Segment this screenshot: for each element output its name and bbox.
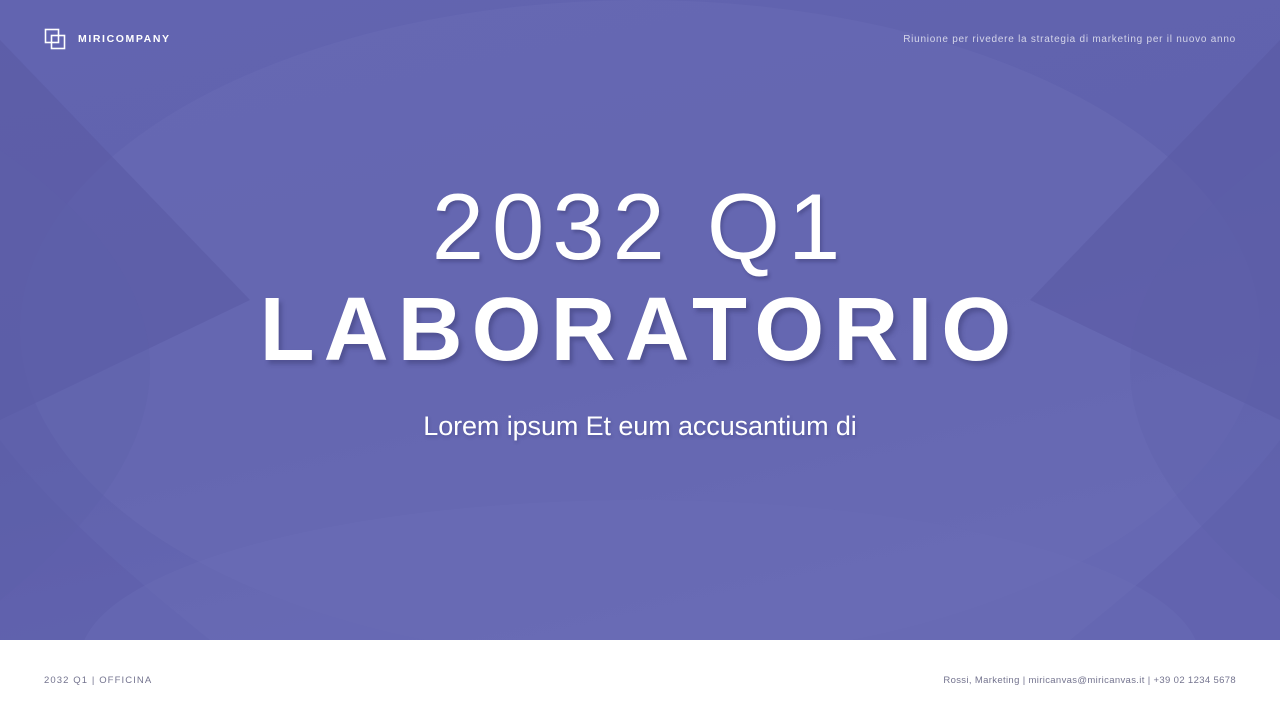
brand-name: MIRICOMPANY (78, 33, 171, 45)
header-note: Riunione per rivedere la strategia di ma… (903, 34, 1236, 45)
slide-footer: 2032 Q1 | OFFICINA Rossi, Marketing | mi… (0, 640, 1280, 720)
footer-left-text: 2032 Q1 | OFFICINA (44, 675, 152, 686)
brand-lockup: MIRICOMPANY (44, 28, 171, 50)
hero-subtitle: Lorem ipsum Et eum accusantium di (423, 411, 856, 442)
footer-contact-text: Rossi, Marketing | miricanvas@miricanvas… (943, 675, 1236, 686)
slide-header: MIRICOMPANY Riunione per rivedere la str… (0, 0, 1280, 78)
hero-block: 2032 Q1 LABORATORIO Lorem ipsum Et eum a… (0, 0, 1280, 640)
overlapping-squares-logo-icon (44, 28, 66, 50)
hero-eyebrow: 2032 Q1 (432, 180, 849, 274)
hero-title: LABORATORIO (260, 280, 1021, 381)
slide-stage: MIRICOMPANY Riunione per rivedere la str… (0, 0, 1280, 640)
presentation-slide: MIRICOMPANY Riunione per rivedere la str… (0, 0, 1280, 720)
